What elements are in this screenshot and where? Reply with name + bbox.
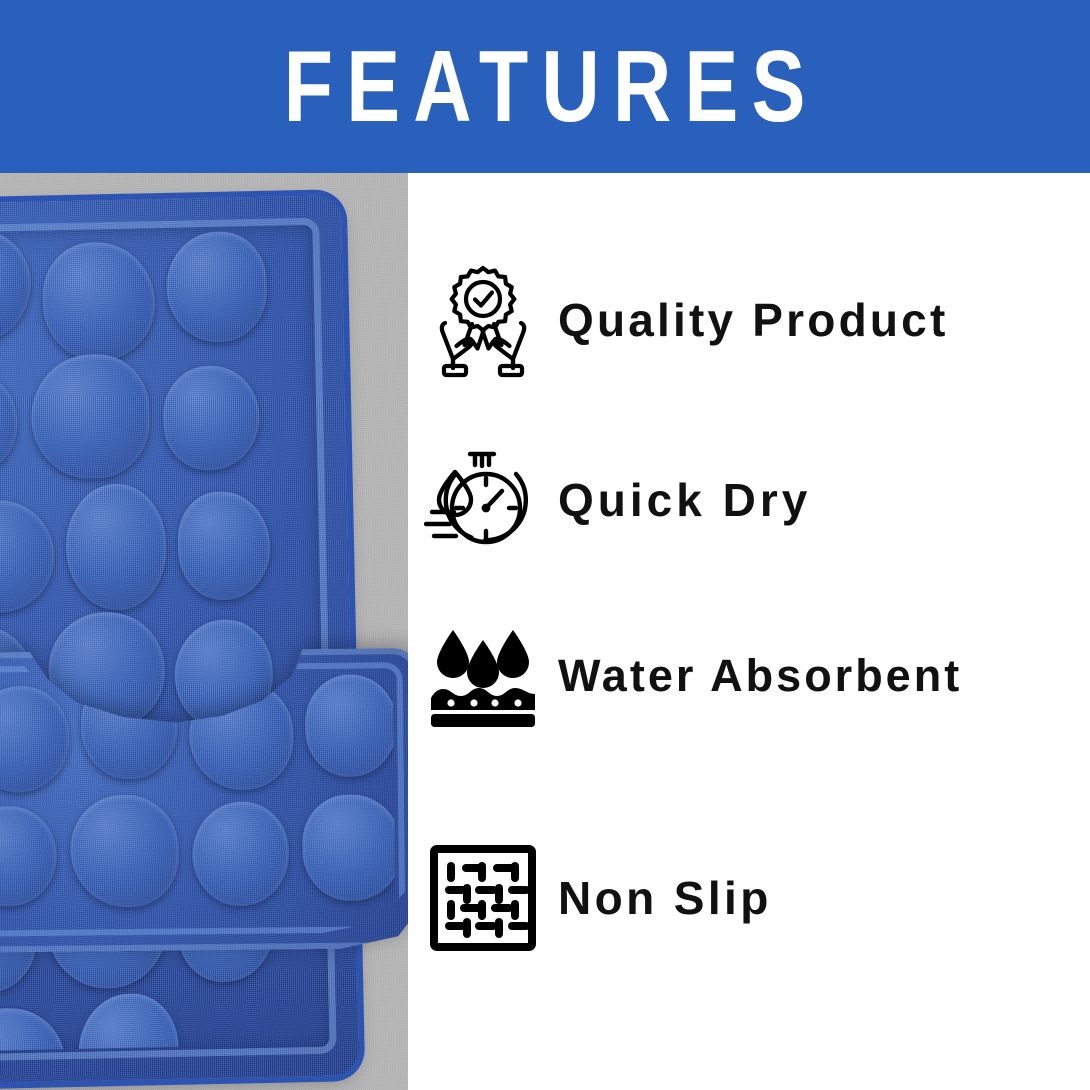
contour-inner-border — [0, 662, 405, 938]
stopwatch-water-drop-icon — [408, 435, 558, 565]
contour-pedestal-mat — [0, 648, 408, 954]
feature-item-quality-product: Quality Product — [408, 255, 1090, 385]
header-banner: FEATURES — [0, 0, 1090, 173]
feature-item-non-slip: Non Slip — [408, 833, 1090, 963]
feature-infographic: FEATURES — [0, 0, 1090, 1090]
quality-badge-in-hands-icon — [408, 255, 558, 385]
feature-label-quick-dry: Quick Dry — [558, 476, 811, 524]
product-photo — [0, 173, 408, 1090]
page-title: FEATURES — [271, 36, 819, 137]
feature-label-water-absorbent: Water Absorbent — [558, 652, 962, 699]
feature-label-quality-product: Quality Product — [558, 296, 948, 344]
feature-item-quick-dry: Quick Dry — [408, 435, 1090, 565]
feature-item-water-absorbent: Water Absorbent — [408, 611, 1090, 741]
water-drops-on-fabric-icon — [408, 611, 558, 741]
features-list: Quality Product — [408, 173, 1090, 1090]
large-rectangular-bath-mat — [0, 195, 359, 1087]
feature-label-non-slip: Non Slip — [558, 874, 772, 922]
non-slip-grip-pattern-icon — [408, 833, 558, 963]
